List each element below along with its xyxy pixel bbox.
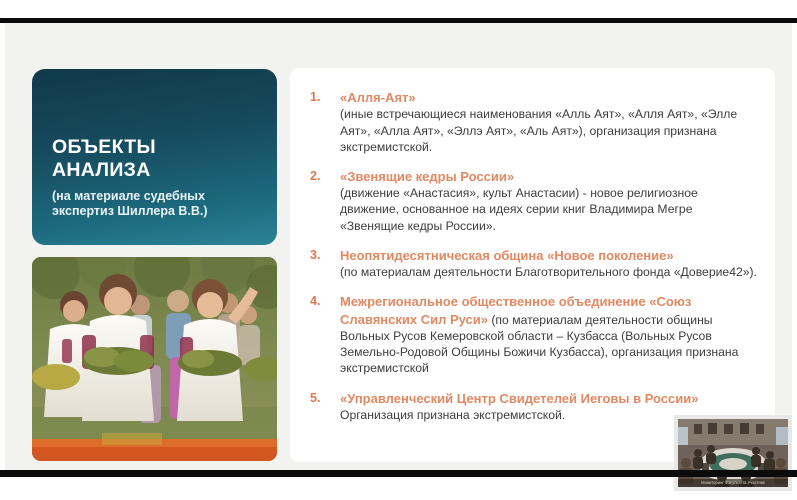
webcam-pip[interactable]: Мониторинг Факультета Участник <box>674 415 792 491</box>
letterbox-bar-bottom <box>0 470 797 477</box>
slide-subtitle: (на материале судебных экспертиз Шиллера… <box>52 189 257 220</box>
webcam-caption: Мониторинг Факультета Участник <box>678 479 788 487</box>
list-item-description: (по материалам деятельности Благотворите… <box>340 265 757 279</box>
list-item: 4. Межрегиональное общественное объедине… <box>310 293 757 376</box>
list-item-heading: «Звенящие кедры России» <box>340 168 757 185</box>
slide-photo <box>32 257 277 461</box>
list-item-number: 4. <box>310 293 340 376</box>
slide-title-card: ОБЪЕКТЫ АНАЛИЗА (на материале судебных э… <box>32 69 277 245</box>
list-item-heading: «Управленческий Центр Свидетелей Иеговы … <box>340 390 757 407</box>
slide-title: ОБЪЕКТЫ АНАЛИЗА <box>52 136 257 181</box>
slide-subtitle-line-1: (на материале судебных <box>52 189 257 204</box>
slide-subtitle-line-2: экспертиз Шиллера В.В.) <box>52 204 257 219</box>
list-item-description: (иные встречающиеся наименования «Алль А… <box>340 107 737 153</box>
presentation-slide: ОБЪЕКТЫ АНАЛИЗА (на материале судебных э… <box>5 23 792 470</box>
list-item: 2. «Звенящие кедры России» (движение «Ан… <box>310 168 757 234</box>
list-item-body: Неопятидесятническая община «Новое покол… <box>340 247 757 281</box>
list-item-number: 2. <box>310 168 340 234</box>
photo-illustration <box>32 257 277 461</box>
list-item-body: Межрегиональное общественное объединение… <box>340 293 757 376</box>
list-item-description: Организация признана экстремистской. <box>340 408 565 422</box>
list-item-body: «Алля-Аят» (иные встречающиеся наименова… <box>340 89 757 155</box>
slide-title-line-1: ОБЪЕКТЫ <box>52 136 257 159</box>
slide-content-panel: 1. «Алля-Аят» (иные встречающиеся наимен… <box>290 68 775 462</box>
list-item-body: «Звенящие кедры России» (движение «Анаст… <box>340 168 757 234</box>
slide-title-line-2: АНАЛИЗА <box>52 159 257 182</box>
list-item-number: 1. <box>310 89 340 155</box>
objects-list: 1. «Алля-Аят» (иные встречающиеся наимен… <box>310 89 757 423</box>
list-item: 3. Неопятидесятническая община «Новое по… <box>310 247 757 281</box>
list-item-heading: Неопятидесятническая община «Новое покол… <box>340 247 757 264</box>
list-item-heading: «Алля-Аят» <box>340 89 757 106</box>
video-player-frame: ОБЪЕКТЫ АНАЛИЗА (на материале судебных э… <box>0 0 797 500</box>
list-item: 1. «Алля-Аят» (иные встречающиеся наимен… <box>310 89 757 155</box>
list-item-description: (движение «Анастасия», культ Анастасии) … <box>340 186 698 232</box>
list-item-number: 5. <box>310 390 340 424</box>
list-item-number: 3. <box>310 247 340 281</box>
